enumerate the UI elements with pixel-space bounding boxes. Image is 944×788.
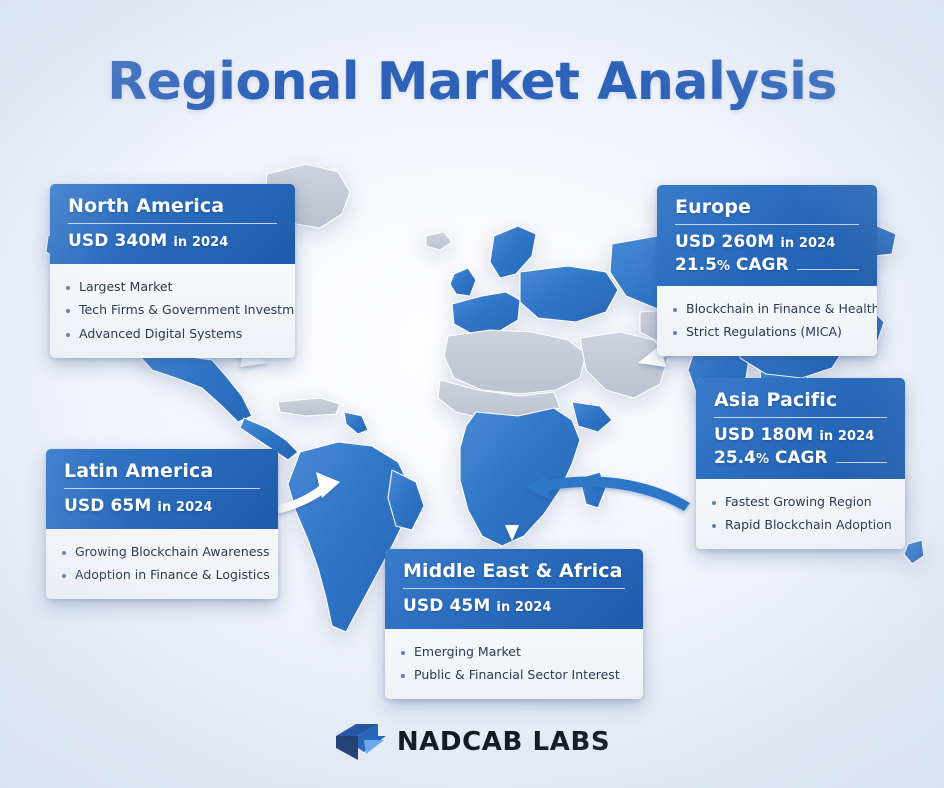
region-card-north-america[interactable]: North America USD 340M in 2024 Largest M… <box>50 184 295 358</box>
cagr-number: 25.4 <box>714 448 756 468</box>
bullet-icon <box>62 551 66 555</box>
bullet-icon <box>712 501 716 505</box>
infographic-canvas: Regional Market Analysis North America U… <box>0 0 944 788</box>
region-name: Europe <box>675 197 859 218</box>
bullet-label: Advanced Digital Systems <box>79 326 242 342</box>
list-item: Blockchain in Finance & Healthcare <box>673 297 861 321</box>
map-region-iceland <box>426 232 452 250</box>
brand-name: NADCAB LABS <box>397 727 610 757</box>
bullet-icon <box>401 651 405 655</box>
card-header: Europe USD 260M in 2024 21.5% CAGR <box>657 185 877 286</box>
bullet-icon <box>673 308 677 312</box>
list-item: Strict Regulations (MICA) <box>673 320 861 344</box>
divider <box>68 223 277 224</box>
map-region-western-europe <box>452 292 520 334</box>
bullet-label: Largest Market <box>79 279 173 295</box>
cagr-unit: % <box>756 452 769 467</box>
value-year: in 2024 <box>173 235 228 250</box>
region-name: Middle East & Africa <box>403 561 625 582</box>
region-card-latin-america[interactable]: Latin America USD 65M in 2024 Growing Bl… <box>46 449 278 599</box>
value-amount: USD 180M <box>714 425 813 445</box>
list-item: Rapid Blockchain Adoption <box>712 513 889 537</box>
bullet-icon <box>66 286 70 290</box>
map-region-middle-east <box>580 332 668 398</box>
map-region-uk <box>450 268 476 296</box>
nadcab-chevron-logo-icon <box>334 722 386 762</box>
card-header: Middle East & Africa USD 45M in 2024 <box>385 549 643 629</box>
bullet-label: Rapid Blockchain Adoption <box>725 517 892 533</box>
region-card-middle-east-africa[interactable]: Middle East & Africa USD 45M in 2024 Eme… <box>385 549 643 699</box>
bullet-label: Emerging Market <box>414 644 521 660</box>
page-title: Regional Market Analysis <box>0 52 944 112</box>
region-card-europe[interactable]: Europe USD 260M in 2024 21.5% CAGR Block… <box>657 185 877 356</box>
cagr-row: 25.4% CAGR <box>714 448 887 468</box>
bullet-label: Blockchain in Finance & Healthcare <box>686 301 877 317</box>
bullet-label: Adoption in Finance & Logistics <box>75 567 270 583</box>
map-region-caribbean-lesser <box>344 412 368 434</box>
card-body: Largest Market Tech Firms & Government I… <box>50 264 295 358</box>
divider <box>675 224 859 225</box>
card-body: Fastest Growing Region Rapid Blockchain … <box>696 479 905 549</box>
value-year: in 2024 <box>157 500 212 515</box>
list-item: Largest Market <box>66 275 279 299</box>
bullet-icon <box>62 574 66 578</box>
region-value: USD 65M in 2024 <box>64 496 260 518</box>
value-amount: USD 45M <box>403 596 490 616</box>
list-item: Emerging Market <box>401 640 627 664</box>
cagr-label: CAGR <box>736 255 789 275</box>
list-item: Fastest Growing Region <box>712 490 889 514</box>
region-card-asia-pacific[interactable]: Asia Pacific USD 180M in 2024 25.4% CAGR… <box>696 378 905 549</box>
card-header: North America USD 340M in 2024 <box>50 184 295 264</box>
bullet-icon <box>712 524 716 528</box>
card-body: Growing Blockchain Awareness Adoption in… <box>46 529 278 599</box>
cagr-row: 21.5% CAGR <box>675 255 859 275</box>
region-name: Asia Pacific <box>714 390 887 411</box>
divider <box>64 488 260 489</box>
value-amount: USD 65M <box>64 496 151 516</box>
value-year: in 2024 <box>496 600 551 615</box>
cagr-value: 21.5% CAGR <box>675 255 789 275</box>
bullet-label: Growing Blockchain Awareness <box>75 544 269 560</box>
map-region-central-europe <box>520 266 618 322</box>
map-region-madagascar <box>582 472 606 508</box>
list-item: Tech Firms & Government Investments <box>66 298 279 322</box>
divider <box>797 269 859 270</box>
bullet-icon <box>66 309 70 313</box>
list-item: Growing Blockchain Awareness <box>62 540 262 564</box>
bullet-label: Tech Firms & Government Investments <box>79 302 295 318</box>
bullet-label: Fastest Growing Region <box>725 494 872 510</box>
map-region-scandinavia <box>490 226 536 278</box>
value-year: in 2024 <box>780 236 835 251</box>
region-value: USD 340M in 2024 <box>68 231 277 253</box>
bullet-icon <box>401 674 405 678</box>
cagr-value: 25.4% CAGR <box>714 448 828 468</box>
map-region-new-zealand <box>904 540 924 564</box>
region-name: Latin America <box>64 461 260 482</box>
map-region-mexico <box>138 354 252 422</box>
bullet-icon <box>66 333 70 337</box>
cagr-label: CAGR <box>775 448 828 468</box>
value-amount: USD 260M <box>675 232 774 252</box>
cagr-number: 21.5 <box>675 255 717 275</box>
map-region-subsaharan-africa <box>460 408 580 546</box>
divider <box>403 588 625 589</box>
region-value: USD 180M in 2024 <box>714 425 887 447</box>
list-item: Adoption in Finance & Logistics <box>62 563 262 587</box>
value-year: in 2024 <box>819 429 874 444</box>
divider <box>836 462 887 463</box>
region-value: USD 45M in 2024 <box>403 596 625 618</box>
bullet-label: Strict Regulations (MICA) <box>686 324 842 340</box>
bullet-icon <box>673 331 677 335</box>
region-value: USD 260M in 2024 <box>675 232 859 254</box>
title-block: Regional Market Analysis <box>0 52 944 112</box>
card-body: Blockchain in Finance & Healthcare Stric… <box>657 286 877 356</box>
footer-logo[interactable]: NADCAB LABS <box>0 722 944 762</box>
map-region-horn-of-africa <box>572 402 612 432</box>
list-item: Public & Financial Sector Interest <box>401 663 627 687</box>
bullet-label: Public & Financial Sector Interest <box>414 667 620 683</box>
card-body: Emerging Market Public & Financial Secto… <box>385 629 643 699</box>
cagr-unit: % <box>717 259 730 274</box>
card-header: Latin America USD 65M in 2024 <box>46 449 278 529</box>
map-region-caribbean <box>278 398 340 416</box>
card-header: Asia Pacific USD 180M in 2024 25.4% CAGR <box>696 378 905 479</box>
region-name: North America <box>68 196 277 217</box>
map-region-north-africa <box>444 330 586 394</box>
divider <box>714 417 887 418</box>
list-item: Advanced Digital Systems <box>66 322 279 346</box>
value-amount: USD 340M <box>68 231 167 251</box>
